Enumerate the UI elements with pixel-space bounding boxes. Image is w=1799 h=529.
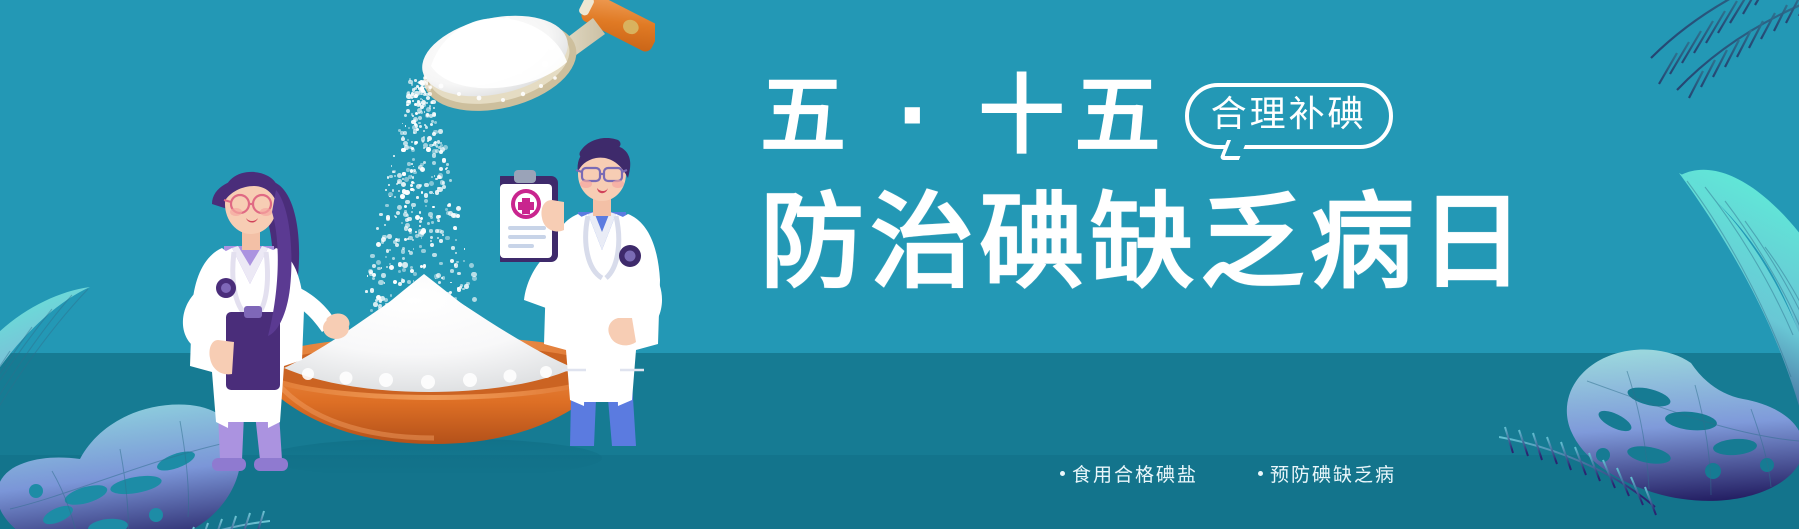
subtitle-item: 预防碘缺乏病 xyxy=(1258,460,1396,487)
subtitle-item-label: 食用合格碘盐 xyxy=(1072,460,1198,487)
male-doctor-illustration xyxy=(500,138,680,460)
event-date: 五 · 十五 xyxy=(760,73,1171,159)
page-title: 防治碘缺乏病日 xyxy=(760,188,1420,296)
slogan-badge: 合理补碘 xyxy=(1185,83,1393,149)
subtitle-item-label: 预防碘缺乏病 xyxy=(1270,460,1396,487)
bullet-dot-icon xyxy=(1258,471,1263,476)
slogan-badge-tail xyxy=(1219,140,1247,160)
headline-block: 五 · 十五 合理补碘 防治碘缺乏病日 xyxy=(760,62,1420,296)
subtitle-item: 食用合格碘盐 xyxy=(1060,460,1198,487)
iodine-deficiency-day-banner: 五 · 十五 合理补碘 防治碘缺乏病日 食用合格碘盐 预防碘缺乏病 xyxy=(0,0,1799,529)
slogan-badge-label: 合理补碘 xyxy=(1211,94,1367,135)
wooden-spoon-with-salt-icon xyxy=(355,0,655,114)
date-row: 五 · 十五 合理补碘 xyxy=(760,62,1420,170)
female-doctor-illustration xyxy=(150,160,350,480)
subtitle-bullets: 食用合格碘盐 预防碘缺乏病 xyxy=(1060,460,1396,487)
bullet-dot-icon xyxy=(1060,471,1065,476)
